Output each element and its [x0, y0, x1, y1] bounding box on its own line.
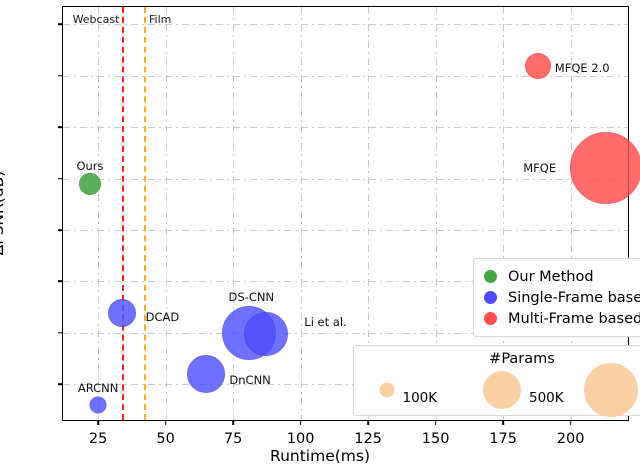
data-point-label: MFQE 2.0 — [555, 61, 610, 75]
gridline-horizontal — [63, 179, 628, 180]
data-point[interactable] — [244, 312, 288, 356]
gridline-vertical — [233, 7, 234, 420]
x-tick-mark — [435, 420, 437, 425]
data-point-label: MFQE — [523, 161, 556, 175]
threshold-label-webcast: Webcast — [73, 13, 120, 26]
x-tick-label: 125 — [354, 431, 382, 447]
data-point[interactable] — [90, 396, 107, 413]
gridline-vertical — [301, 7, 302, 420]
data-point-label: ARCNN — [78, 381, 119, 395]
data-point[interactable] — [79, 173, 101, 195]
data-point-label: DnCNN — [229, 373, 270, 387]
data-point[interactable] — [570, 132, 640, 204]
gridline-horizontal — [63, 24, 628, 25]
size-legend-bubble — [380, 383, 395, 398]
x-tick-mark — [570, 420, 572, 425]
color-legend-label: Single-Frame based — [508, 290, 640, 306]
x-tick-label: 150 — [422, 431, 450, 447]
size-legend-title: #Params — [489, 351, 555, 367]
y-tick-mark — [58, 75, 63, 77]
y-tick-mark — [58, 178, 63, 180]
gridline-horizontal — [63, 127, 628, 128]
x-tick-label: 100 — [287, 431, 315, 447]
y-tick-mark — [58, 280, 63, 282]
x-tick-mark — [165, 420, 167, 425]
x-tick-label: 175 — [489, 431, 517, 447]
chart-figure: ΔPSNR(dB) Runtime(ms) 0.250.300.350.400.… — [0, 0, 640, 469]
data-point-label: DS-CNN — [229, 290, 275, 304]
x-tick-label: 50 — [156, 431, 174, 447]
y-tick-mark — [58, 229, 63, 231]
x-tick-mark — [300, 420, 302, 425]
data-point-label: Li et al. — [304, 315, 346, 329]
color-legend-label: Our Method — [508, 269, 594, 285]
x-tick-label: 200 — [557, 431, 585, 447]
x-axis-label: Runtime(ms) — [270, 447, 370, 465]
color-legend-item[interactable]: Single-Frame based — [484, 287, 640, 308]
threshold-label-film: Film — [149, 13, 171, 26]
legend-swatch-icon — [484, 270, 497, 283]
x-tick-mark — [97, 420, 99, 425]
y-tick-mark — [58, 126, 63, 128]
x-tick-label: 75 — [224, 431, 242, 447]
size-legend-label: 500K — [529, 390, 564, 406]
data-point[interactable] — [187, 355, 225, 393]
gridline-vertical — [166, 7, 167, 420]
y-tick-mark — [58, 332, 63, 334]
size-legend-label: 100K — [403, 390, 438, 406]
size-legend-bubble — [483, 371, 521, 409]
legend-swatch-icon — [484, 291, 497, 304]
x-tick-label: 25 — [89, 431, 107, 447]
color-legend: Our MethodSingle-Frame basedMulti-Frame … — [473, 258, 640, 337]
data-point[interactable] — [108, 299, 136, 327]
legend-swatch-icon — [484, 312, 497, 325]
y-axis-label: ΔPSNR(dB) — [0, 171, 7, 256]
gridline-vertical — [98, 7, 99, 420]
y-tick-mark — [58, 383, 63, 385]
threshold-line-webcast — [122, 7, 124, 420]
data-point[interactable] — [525, 53, 551, 79]
data-point-label: DCAD — [146, 310, 180, 324]
size-legend: #Params 100K500K1000K — [353, 345, 640, 416]
color-legend-label: Multi-Frame based — [508, 311, 640, 327]
data-point-label: Ours — [76, 159, 103, 173]
color-legend-item[interactable]: Multi-Frame based — [484, 308, 640, 329]
size-legend-bubble — [584, 363, 638, 417]
plot-area: 0.250.300.350.400.450.500.550.60 2550751… — [62, 6, 629, 421]
gridline-horizontal — [63, 230, 628, 231]
x-tick-mark — [232, 420, 234, 425]
threshold-line-film — [144, 7, 146, 420]
y-tick-mark — [58, 24, 63, 26]
color-legend-item[interactable]: Our Method — [484, 266, 640, 287]
x-tick-mark — [367, 420, 369, 425]
x-tick-mark — [502, 420, 504, 425]
